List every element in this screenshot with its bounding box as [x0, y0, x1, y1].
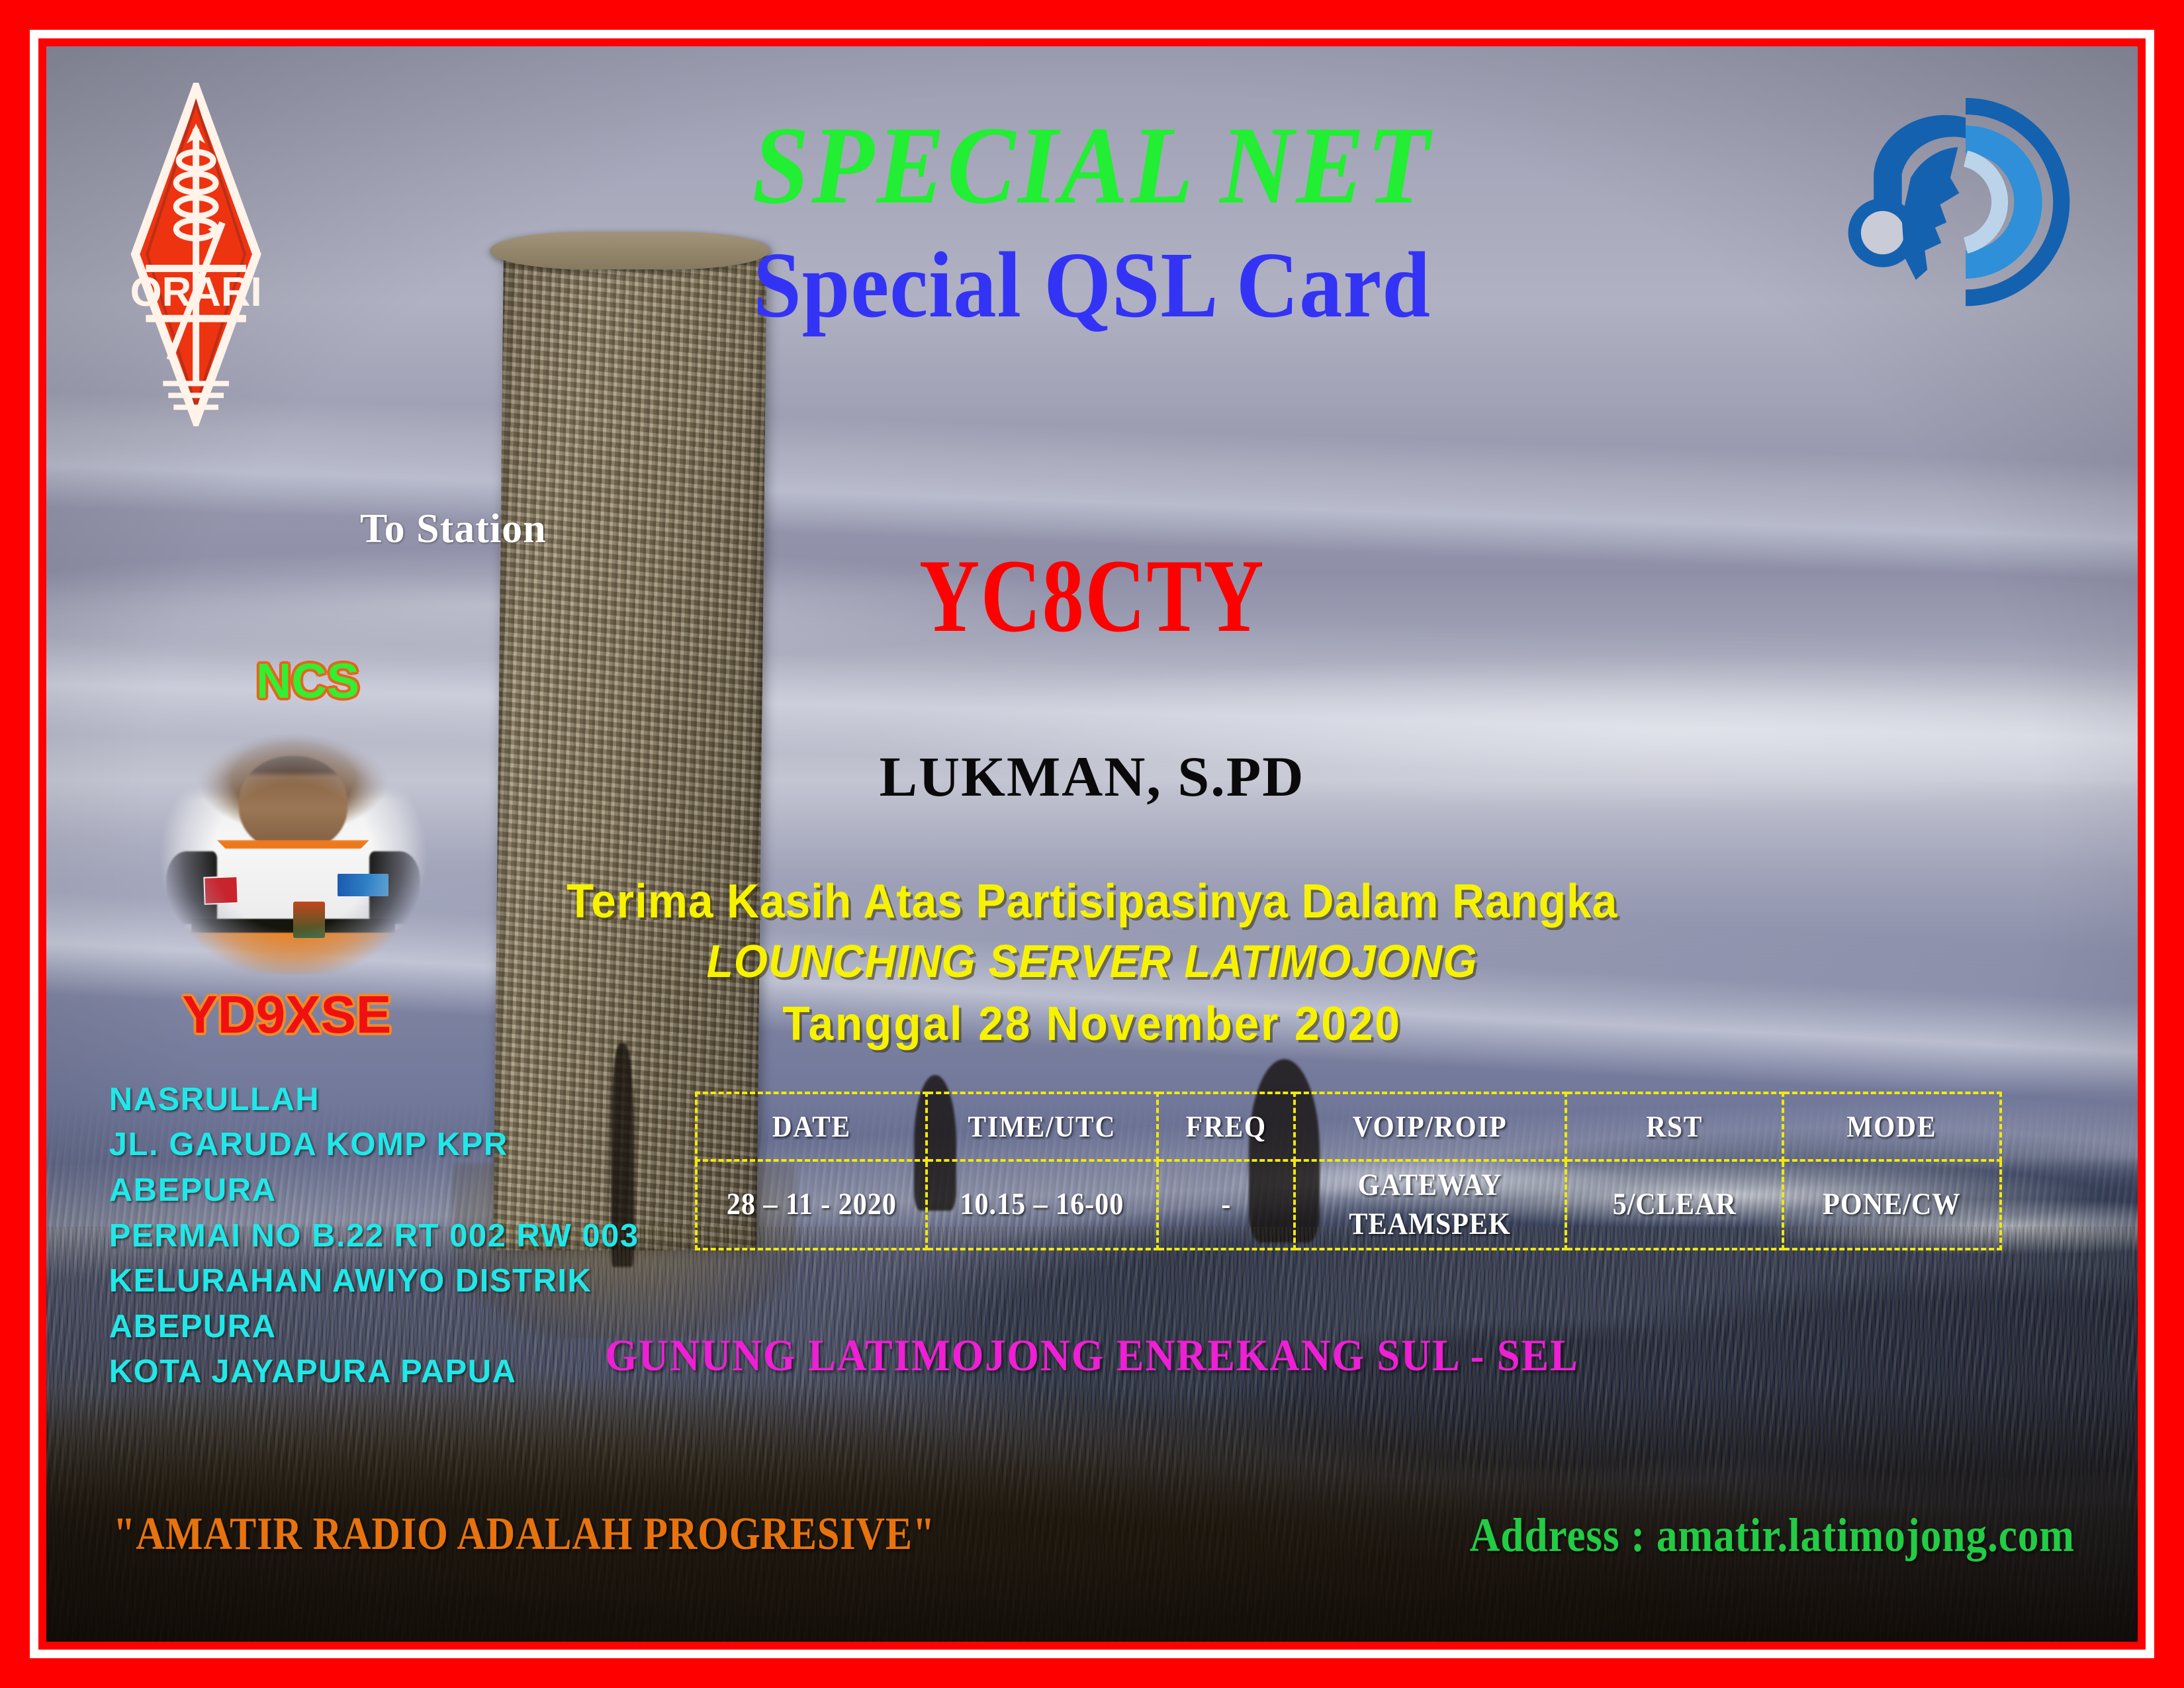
- photo-chest-logo: [338, 874, 388, 896]
- operator-photo: [134, 716, 452, 997]
- mountain-location-caption: GUNUNG LATIMOJONG ENREKANG SUL - SEL: [130, 1329, 2054, 1382]
- column-header-date: DATE: [707, 1093, 915, 1160]
- qso-log-table: DATE TIME/UTC FREQ VOIP/ROIP RST MODE 28…: [695, 1092, 2002, 1250]
- cell-time: 10.15 – 16-00: [938, 1160, 1146, 1249]
- column-header-rst: RST: [1576, 1093, 1772, 1160]
- table-row: 28 – 11 - 2020 10.15 – 16-00 - GATEWAY T…: [696, 1160, 2001, 1249]
- column-header-freq: FREQ: [1164, 1093, 1288, 1160]
- background-photograph: ORARI: [46, 46, 2138, 1642]
- column-header-time: TIME/UTC: [938, 1093, 1146, 1160]
- address-line: KELURAHAN AWIYO DISTRIK: [109, 1258, 639, 1304]
- club-motto: "AMATIR RADIO ADALAH PROGRESIVE": [113, 1508, 935, 1561]
- cell-mode: PONE/CW: [1794, 1160, 1989, 1249]
- address-line: NASRULLAH: [109, 1077, 639, 1123]
- photo-id-badge: [293, 902, 325, 938]
- cell-voip-line-2: TEAMSPEK: [1310, 1205, 1551, 1244]
- cell-voip-line-1: GATEWAY: [1310, 1166, 1551, 1205]
- cell-rst: 5/CLEAR: [1576, 1160, 1772, 1249]
- ncs-label: NCS: [161, 653, 454, 709]
- ncs-callsign: YD9XSE: [109, 984, 465, 1045]
- table-header-row: DATE TIME/UTC FREQ VOIP/ROIP RST MODE: [696, 1093, 2001, 1160]
- card-frame-white-gap: ORARI: [30, 30, 2154, 1658]
- cell-date: 28 – 11 - 2020: [707, 1160, 915, 1249]
- photo-head: [239, 756, 347, 851]
- photo-orari-patch: [204, 876, 239, 905]
- page-subtitle: Special QSL Card: [130, 238, 2054, 332]
- column-header-mode: MODE: [1794, 1093, 1989, 1160]
- card-frame-inner-red: ORARI: [38, 38, 2146, 1650]
- address-line: ABEPURA: [109, 1168, 639, 1213]
- address-line: PERMAI NO B.22 RT 002 RW 003: [109, 1213, 639, 1259]
- address-line: JL. GARUDA KOMP KPR: [109, 1122, 639, 1168]
- qsl-card: ORARI: [0, 0, 2184, 1688]
- station-callsign: YC8CTY: [255, 544, 1929, 649]
- web-address: Address : amatir.latimojong.com: [1470, 1508, 2075, 1563]
- cell-voip: GATEWAY TEAMSPEK: [1308, 1160, 1552, 1249]
- cell-freq: -: [1164, 1160, 1288, 1249]
- column-header-voip: VOIP/ROIP: [1308, 1093, 1552, 1160]
- page-title: SPECIAL NET: [130, 110, 2054, 221]
